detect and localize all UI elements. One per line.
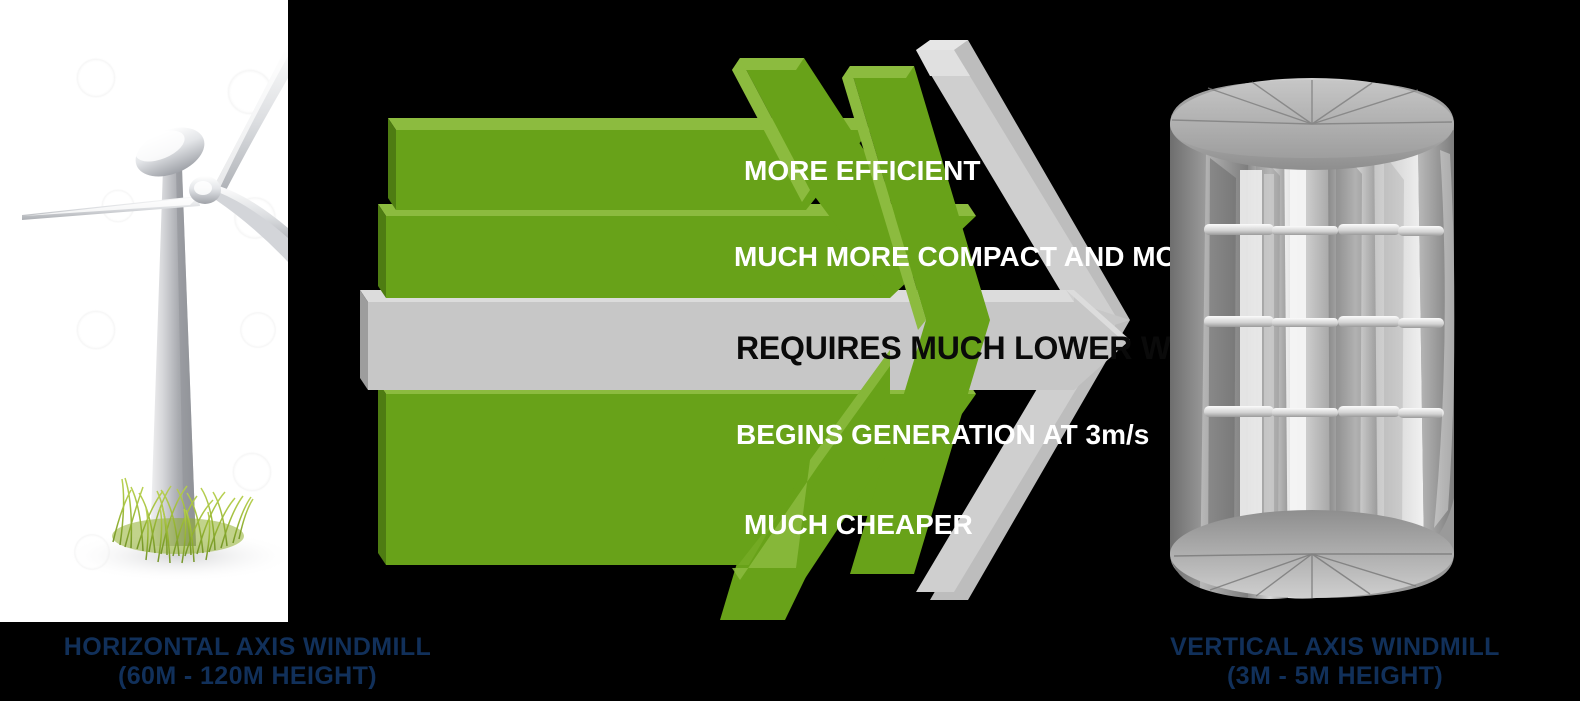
vertical-axis-windmill-image: [1152, 58, 1472, 620]
caption-horizontal-axis-windmill: HORIZONTAL AXIS WINDMILL (60M - 120M HEI…: [0, 633, 495, 691]
comparison-arrow-graphic: MORE EFFICIENT MUCH MORE COMPACT AND MOB…: [330, 20, 1140, 640]
horizontal-axis-windmill-image: [0, 0, 288, 622]
vawt-illustration: [1152, 58, 1472, 620]
arrow-svg: [330, 20, 1140, 640]
hawt-illustration: [0, 0, 288, 622]
caption-right-line2: (3M - 5M HEIGHT): [1090, 662, 1580, 691]
caption-left-line2: (60M - 120M HEIGHT): [0, 662, 495, 691]
bar-shape-requires-lower-wind: [360, 290, 1130, 390]
caption-left-line1: HORIZONTAL AXIS WINDMILL: [64, 633, 431, 661]
caption-vertical-axis-windmill: VERTICAL AXIS WINDMILL (3M - 5M HEIGHT): [1090, 633, 1580, 691]
caption-right-line1: VERTICAL AXIS WINDMILL: [1170, 633, 1500, 661]
infographic-canvas: MORE EFFICIENT MUCH MORE COMPACT AND MOB…: [0, 0, 1580, 701]
